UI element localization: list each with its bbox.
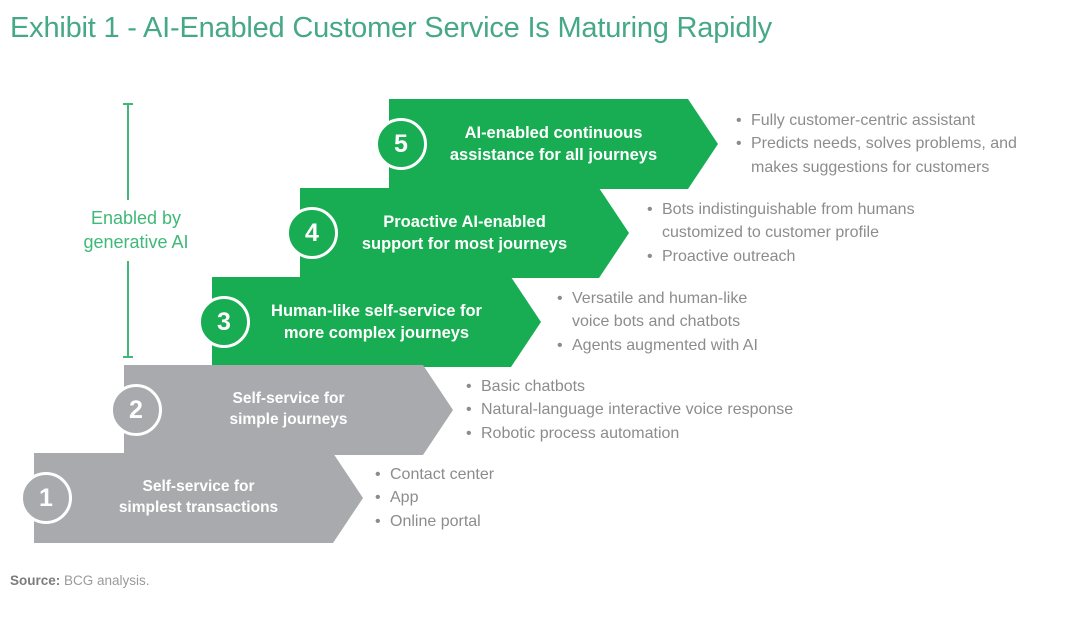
bracket-upper-segment bbox=[127, 103, 129, 200]
maturity-diagram: Enabled by generative AI AI-enabled cont… bbox=[0, 0, 1080, 617]
source-note: Source: BCG analysis. bbox=[10, 573, 150, 588]
arrow-shape-4: Proactive AI-enabled support for most jo… bbox=[300, 188, 629, 278]
arrow-shape-1: Self-service for simplest transactions bbox=[34, 453, 363, 543]
bullet-item: Robotic process automation bbox=[466, 422, 826, 445]
bullet-item: Versatile and human-like voice bots and … bbox=[557, 287, 857, 333]
bullet-item: Bots indistinguishable from humans custo… bbox=[647, 198, 947, 244]
bullet-list-5: Fully customer-centric assistant Predict… bbox=[736, 99, 1036, 189]
arrow-shape-2: Self-service for simple journeys bbox=[124, 365, 453, 455]
bullet-item: Contact center bbox=[375, 463, 675, 486]
source-label: Source: bbox=[10, 573, 60, 588]
bullet-list-3: Versatile and human-like voice bots and … bbox=[557, 277, 857, 367]
arrow-label-1: Self-service for simplest transactions bbox=[85, 477, 312, 519]
bullet-item: Proactive outreach bbox=[647, 245, 947, 268]
source-text: BCG analysis. bbox=[64, 573, 150, 588]
bullet-item: Basic chatbots bbox=[466, 375, 826, 398]
bracket-lower-segment bbox=[127, 261, 129, 358]
bracket-bottom-cap bbox=[123, 356, 133, 358]
level-badge-2: 2 bbox=[110, 384, 162, 436]
bullet-item: App bbox=[375, 486, 675, 509]
bullet-item: Online portal bbox=[375, 510, 675, 533]
bullet-item: Fully customer-centric assistant bbox=[736, 109, 1036, 132]
bullet-item: Agents augmented with AI bbox=[557, 334, 857, 357]
arrow-label-4: Proactive AI-enabled support for most jo… bbox=[328, 211, 601, 256]
bullet-list-2: Basic chatbots Natural-language interact… bbox=[466, 365, 826, 455]
bullet-list-4: Bots indistinguishable from humans custo… bbox=[647, 188, 947, 278]
bullet-list-1: Contact center App Online portal bbox=[375, 453, 675, 543]
arrow-label-5: AI-enabled continuous assistance for all… bbox=[416, 122, 691, 167]
bullet-item: Predicts needs, solves problems, and mak… bbox=[736, 132, 1036, 178]
arrow-label-3: Human-like self-service for more complex… bbox=[237, 300, 516, 345]
level-badge-3: 3 bbox=[198, 296, 250, 348]
enabled-by-label: Enabled by generative AI bbox=[66, 206, 206, 255]
level-badge-4: 4 bbox=[286, 207, 338, 259]
level-badge-1: 1 bbox=[20, 472, 72, 524]
bullet-item: Natural-language interactive voice respo… bbox=[466, 398, 826, 421]
arrow-shape-3: Human-like self-service for more complex… bbox=[212, 277, 541, 367]
arrow-label-2: Self-service for simple journeys bbox=[195, 389, 381, 431]
level-badge-5: 5 bbox=[375, 118, 427, 170]
arrow-shape-5: AI-enabled continuous assistance for all… bbox=[389, 99, 718, 189]
